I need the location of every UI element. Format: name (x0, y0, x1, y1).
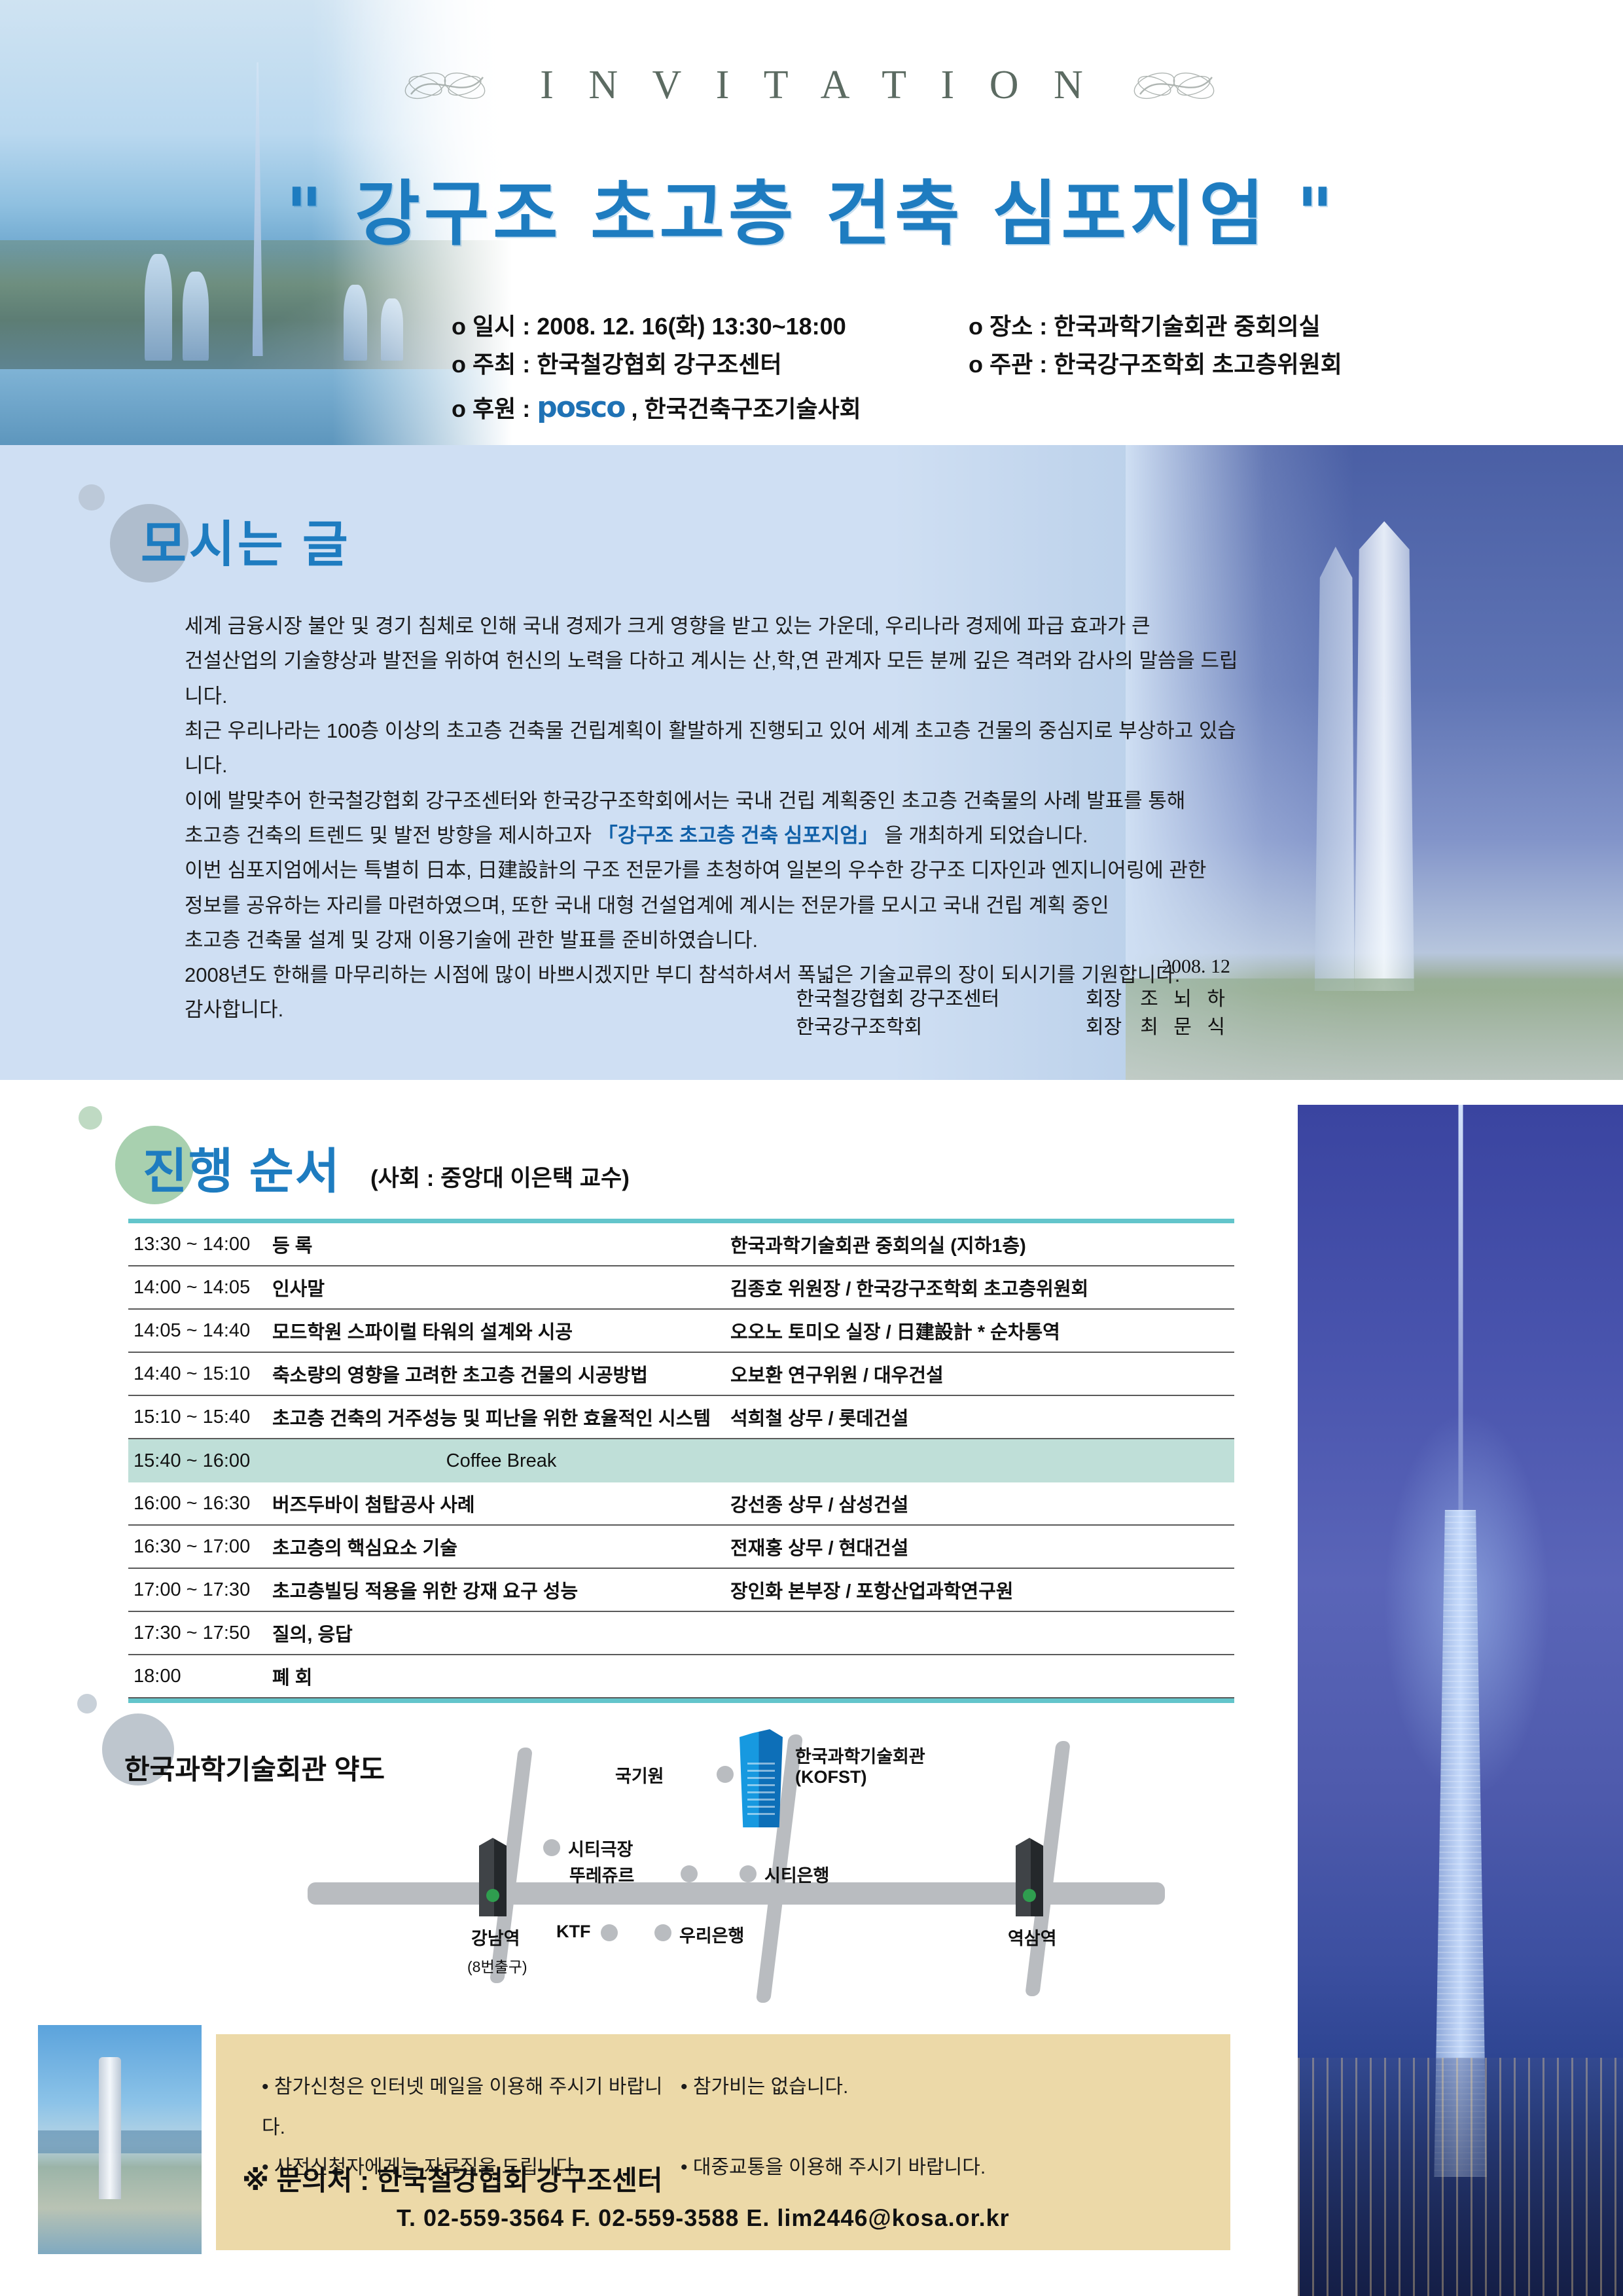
table-row: 17:30 ~ 17:50 질의, 응답 (128, 1612, 1234, 1655)
row-time: 14:00 ~ 14:05 (128, 1277, 272, 1299)
event-meta-left-column: o 일시 : 2008. 12. 16(화) 13:30~18:00 o 주최 … (452, 308, 969, 431)
map-label-venue-line2: (KOFST) (795, 1767, 866, 1787)
table-row: 16:00 ~ 16:30 버즈두바이 첨탑공사 사례 강선종 상무 / 삼성건… (128, 1482, 1234, 1526)
header-section: I N V I T A T I O N " 강구조 초고층 건축 심포지엄 " … (0, 0, 1623, 445)
map-label-kukgiwon: 국기원 (615, 1762, 664, 1787)
schedule-bottom-rule (128, 1698, 1234, 1703)
bullet-marker: o (452, 351, 466, 378)
row-topic: 초고층빌딩 적용을 위한 강재 요구 성능 (272, 1576, 730, 1604)
event-meta-block: o 일시 : 2008. 12. 16(화) 13:30~18:00 o 주최 … (452, 308, 1564, 431)
signatory-name: 최 문 식 (1140, 1013, 1230, 1042)
footer-tower (99, 2057, 121, 2199)
event-organizer-value: 한국강구조학회 초고층위원회 (1054, 351, 1342, 378)
row-topic: 초고층 건축의 거주성능 및 피난을 위한 효율적인 시스템 (272, 1403, 730, 1431)
greeting-heading: 모시는 글 (141, 504, 351, 576)
event-host-label: 주최 : (473, 351, 530, 378)
map-label-yeoksam-station: 역삼역 (1008, 1924, 1057, 1950)
signatory-org: 한국철강협회 강구조센터 (796, 985, 1051, 1014)
event-meta-sponsor: o 후원 : posco , 한국건축구조기술사회 (452, 384, 969, 431)
map-label-woori-bank: 우리은행 (679, 1922, 744, 1947)
event-meta-organizer: o 주관 : 한국강구조학회 초고층위원회 (969, 346, 1531, 384)
event-meta-date: o 일시 : 2008. 12. 16(화) 13:30~18:00 (452, 308, 969, 346)
table-row: 14:00 ~ 14:05 인사말 김종호 위원장 / 한국강구조학회 초고층위… (128, 1266, 1234, 1310)
map-label-city-theater: 시티극장 (568, 1835, 633, 1861)
map-label-citibank: 시티은행 (764, 1861, 829, 1887)
schedule-top-rule (128, 1219, 1234, 1223)
list-item: • 참가비는 없습니다. (681, 2067, 1099, 2108)
event-date-label: 일시 : (473, 313, 530, 340)
event-venue-label: 장소 : (990, 313, 1047, 340)
yeoksam-station-marker (1016, 1838, 1043, 1916)
signatory-row: 한국강구조학회 회장 최 문 식 (733, 1013, 1230, 1042)
poi-dot-woori-bank (654, 1924, 671, 1941)
signatory-post: 회장 (1069, 1013, 1122, 1042)
signatory-row: 한국철강협회 강구조센터 회장 조 뇌 하 (733, 985, 1230, 1014)
event-meta-venue: o 장소 : 한국과학기술회관 중회의실 (969, 308, 1531, 346)
greeting-paragraph: 최근 우리나라는 100층 이상의 초고층 건축물 건립계획이 활발하게 진행되… (185, 713, 1245, 783)
greeting-tower-primary (1345, 521, 1423, 991)
flourish-right-icon (1127, 63, 1225, 109)
highlight-prefix: 초고층 건축의 트렌드 및 발전 방향을 제시하고자 (185, 824, 597, 847)
list-item: • 대중교통을 이용해 주시기 바랍니다. (681, 2147, 1099, 2188)
venue-location-map: 한국과학기술회관 (KOFST) 국기원 시티극장 뚜레쥬르 시티은행 강남역 … (308, 1728, 1237, 2009)
invitation-word: I N V I T A T I O N (527, 62, 1096, 109)
row-topic: 등 록 (272, 1230, 730, 1258)
table-row: 15:10 ~ 15:40 초고층 건축의 거주성능 및 피난을 위한 효율적인… (128, 1396, 1234, 1439)
row-time: 13:30 ~ 14:00 (128, 1234, 272, 1255)
list-item: • 참가신청은 인터넷 메일을 이용해 주시기 바랍니다. (262, 2067, 681, 2147)
posco-logo: posco (537, 391, 624, 424)
subway-logo-icon (486, 1889, 499, 1902)
row-time: 14:40 ~ 15:10 (128, 1363, 272, 1385)
poi-dot-citibank (740, 1865, 757, 1882)
event-date-value: 2008. 12. 16(화) 13:30~18:00 (537, 313, 846, 340)
kofst-building-icon (740, 1729, 783, 1827)
poi-dot-kukgiwon (717, 1766, 734, 1783)
row-speaker: 오오노 토미오 실장 / 日建設計 * 순차통역 (730, 1317, 1234, 1344)
program-heading: 진행 순서 (143, 1132, 341, 1202)
row-time: 17:30 ~ 17:50 (128, 1623, 272, 1644)
row-topic: 버즈두바이 첨탑공사 사례 (272, 1490, 730, 1517)
signature-date: 2008. 12 (733, 952, 1230, 981)
map-label-gangnam-exit: (8번출구) (467, 1954, 527, 1977)
event-meta-host: o 주최 : 한국철강협회 강구조센터 (452, 346, 969, 384)
program-decor-dot-small (79, 1106, 102, 1130)
signatory-name: 조 뇌 하 (1140, 985, 1230, 1014)
row-time: 16:30 ~ 17:00 (128, 1536, 272, 1558)
row-speaker: 오보환 연구위원 / 대우건설 (730, 1360, 1234, 1388)
row-speaker: 전재홍 상무 / 현대건설 (730, 1533, 1234, 1560)
event-host-value: 한국철강협회 강구조센터 (537, 351, 781, 378)
footer-bullet-row: • 참가신청은 인터넷 메일을 이용해 주시기 바랍니다.• 참가비는 없습니다… (262, 2067, 1204, 2147)
bullet-marker: o (969, 313, 983, 340)
greeting-paragraph: 이에 발맞추어 한국철강협회 강구조센터와 한국강구조학회에서는 국내 건립 계… (185, 783, 1245, 818)
row-time: 14:05 ~ 14:40 (128, 1320, 272, 1342)
row-speaker: 석희철 상무 / 롯데건설 (730, 1403, 1234, 1431)
row-speaker: 한국과학기술회관 중회의실 (지하1층) (730, 1230, 1234, 1258)
row-time: 17:00 ~ 17:30 (128, 1579, 272, 1601)
subway-logo-icon (1023, 1889, 1036, 1902)
row-speaker: 장인화 본부장 / 포항산업과학연구원 (730, 1576, 1234, 1604)
row-topic: Coffee Break (272, 1450, 730, 1472)
bullet-marker: o (969, 351, 983, 378)
footer-bullet-text: 참가비는 없습니다. (693, 2076, 848, 2098)
row-time: 15:10 ~ 15:40 (128, 1407, 272, 1428)
map-label-venue-line1: 한국과학기술회관 (795, 1742, 925, 1768)
footer-bullet-text: 대중교통을 이용해 주시기 바랍니다. (693, 2157, 986, 2178)
symposium-title-highlight: 「강구조 초고층 건축 심포지엄」 (597, 824, 879, 847)
row-topic: 초고층의 핵심요소 기술 (272, 1533, 730, 1560)
footer-tower-photo (38, 2025, 202, 2254)
map-label-ktf: KTF (556, 1922, 590, 1942)
row-topic: 폐 회 (272, 1662, 730, 1690)
page-title: " 강구조 초고층 건축 심포지엄 " (0, 157, 1623, 259)
tower-decor-1 (145, 254, 172, 361)
event-sponsor-label: 후원 : (473, 395, 530, 422)
night-city-lights (1298, 2058, 1623, 2296)
table-row: 14:05 ~ 14:40 모드학원 스파이럴 타워의 설계와 시공 오오노 토… (128, 1310, 1234, 1353)
event-organizer-label: 주관 : (990, 351, 1047, 378)
table-row: 17:00 ~ 17:30 초고층빌딩 적용을 위한 강재 요구 성능 장인화 … (128, 1569, 1234, 1612)
greeting-paragraph: 세계 금융시장 불안 및 경기 침체로 인해 국내 경제가 크게 영향을 받고 … (185, 609, 1245, 643)
poi-dot-ktf (601, 1924, 618, 1941)
flourish-left-icon (398, 63, 496, 109)
event-meta-right-column: o 장소 : 한국과학기술회관 중회의실 o 주관 : 한국강구조학회 초고층위… (969, 308, 1531, 384)
bullet-marker: o (452, 395, 466, 422)
footer-contact-line: ※ 문의처 : 한국철강협회 강구조센터 (242, 2159, 662, 2198)
night-tower-photo (1298, 1105, 1623, 2296)
row-topic: 인사말 (272, 1274, 730, 1301)
highlight-suffix: 을 개최하게 되었습니다. (879, 824, 1088, 847)
greeting-paragraph: 정보를 공유하는 자리를 마련하였으며, 또한 국내 대형 건설업계에 계시는 … (185, 888, 1245, 923)
gangnam-station-marker (479, 1838, 507, 1916)
signatory-org: 한국강구조학회 (796, 1013, 1051, 1042)
event-venue-value: 한국과학기술회관 중회의실 (1054, 313, 1320, 340)
tower-decor-2 (183, 272, 209, 361)
row-topic: 질의, 응답 (272, 1619, 730, 1647)
row-time: 18:00 (128, 1666, 272, 1687)
bullet-marker: o (452, 313, 466, 340)
greeting-paragraph: 건설산업의 기술향상과 발전을 위하여 헌신의 노력을 다하고 계시는 산,학,… (185, 643, 1245, 713)
greeting-paragraph-highlight: 초고층 건축의 트렌드 및 발전 방향을 제시하고자 「강구조 초고층 건축 심… (185, 818, 1245, 853)
footer-phone-line: T. 02-559-3564 F. 02-559-3588 E. lim2446… (397, 2204, 1010, 2232)
invitation-banner: I N V I T A T I O N (0, 62, 1623, 109)
map-label-tous-les-jours: 뚜레쥬르 (569, 1861, 634, 1887)
greeting-paragraph: 이번 심포지엄에서는 특별히 日本, 日建設計의 구조 전문가를 초청하여 일본… (185, 853, 1245, 888)
row-speaker: 김종호 위원장 / 한국강구조학회 초고층위원회 (730, 1274, 1234, 1301)
row-time: 16:00 ~ 16:30 (128, 1493, 272, 1515)
table-row: 18:00 폐 회 (128, 1655, 1234, 1698)
greeting-decor-dot-small (79, 484, 105, 511)
signatory-post: 회장 (1069, 985, 1122, 1014)
poi-dot-tous-les-jours (681, 1865, 698, 1882)
schedule-table: 13:30 ~ 14:00 등 록 한국과학기술회관 중회의실 (지하1층) 1… (128, 1219, 1234, 1703)
map-label-gangnam-station: 강남역 (471, 1924, 520, 1950)
table-row: 13:30 ~ 14:00 등 록 한국과학기술회관 중회의실 (지하1층) (128, 1223, 1234, 1266)
event-sponsor-value: , 한국건축구조기술사회 (632, 395, 861, 422)
row-topic: 모드학원 스파이럴 타워의 설계와 시공 (272, 1317, 730, 1344)
table-row: 14:40 ~ 15:10 축소량의 영향을 고려한 초고층 건물의 시공방법 … (128, 1353, 1234, 1396)
program-moderator: (사회 : 중앙대 이은택 교수) (370, 1160, 630, 1193)
row-speaker: 강선종 상무 / 삼성건설 (730, 1490, 1234, 1517)
greeting-tower-secondary (1308, 547, 1361, 991)
footer-bullet-text: 참가신청은 인터넷 메일을 이용해 주시기 바랍니다. (262, 2076, 663, 2138)
row-topic: 축소량의 영향을 고려한 초고층 건물의 시공방법 (272, 1360, 730, 1388)
poi-dot-city-theater (543, 1839, 560, 1856)
row-time: 15:40 ~ 16:00 (128, 1450, 272, 1472)
map-decor-dot-small (77, 1694, 97, 1713)
table-row-coffee-break: 15:40 ~ 16:00 Coffee Break (128, 1439, 1234, 1482)
greeting-signature-block: 2008. 12 한국철강협회 강구조센터 회장 조 뇌 하 한국강구조학회 회… (733, 952, 1230, 1042)
table-row: 16:30 ~ 17:00 초고층의 핵심요소 기술 전재홍 상무 / 현대건설 (128, 1526, 1234, 1569)
